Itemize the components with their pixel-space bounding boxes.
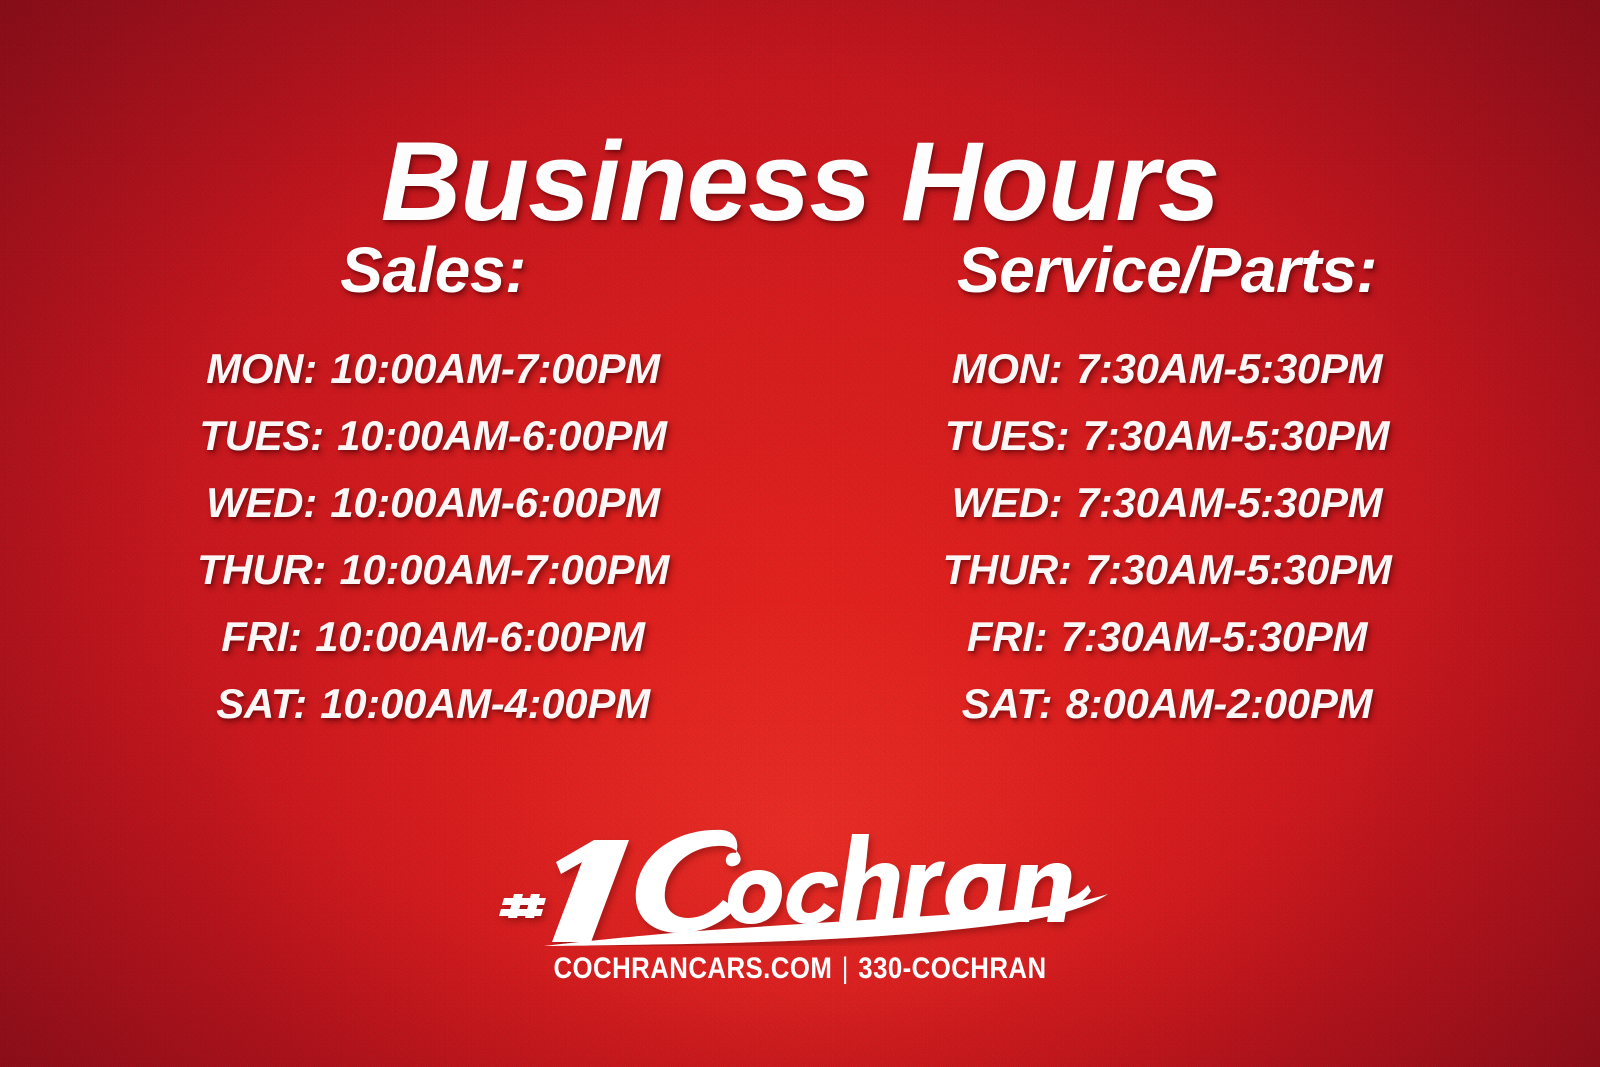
- hours-value: 8:00AM-2:00PM: [1066, 680, 1373, 727]
- page-title: Business Hours: [0, 123, 1600, 241]
- day-label: MON:: [952, 345, 1063, 392]
- day-label: TUES:: [945, 412, 1070, 459]
- hash-mark-icon: [499, 894, 546, 918]
- service-parts-column-heading: Service/Parts:: [817, 238, 1517, 302]
- day-label: SAT:: [216, 680, 307, 727]
- business-hours-poster: Business Hours Sales: MON: 10:00AM-7:00P…: [0, 0, 1600, 1067]
- day-label: MON:: [206, 345, 317, 392]
- hours-value: 10:00AM-7:00PM: [339, 546, 669, 593]
- list-item: MON: 10:00AM-7:00PM: [83, 348, 783, 390]
- hours-value: 7:30AM-5:30PM: [1083, 412, 1390, 459]
- list-item: FRI: 7:30AM-5:30PM: [817, 616, 1517, 658]
- day-label: FRI:: [221, 613, 301, 660]
- list-item: FRI: 10:00AM-6:00PM: [83, 616, 783, 658]
- hours-value: 10:00AM-7:00PM: [330, 345, 660, 392]
- phone-text: 330-COCHRAN: [858, 952, 1046, 985]
- sales-hours-list: MON: 10:00AM-7:00PM TUES: 10:00AM-6:00PM…: [83, 348, 783, 725]
- list-item: SAT: 10:00AM-4:00PM: [83, 683, 783, 725]
- cochran-logo: [490, 806, 1110, 946]
- sales-hours-column: Sales: MON: 10:00AM-7:00PM TUES: 10:00AM…: [83, 238, 803, 750]
- hours-value: 7:30AM-5:30PM: [1085, 546, 1392, 593]
- day-label: THUR:: [942, 546, 1071, 593]
- website-text: COCHRANCARS.COM: [553, 952, 832, 985]
- hours-value: 7:30AM-5:30PM: [1076, 345, 1383, 392]
- hours-value: 7:30AM-5:30PM: [1076, 479, 1383, 526]
- hours-value: 10:00AM-6:00PM: [315, 613, 645, 660]
- swoosh-underline: [544, 892, 1108, 946]
- list-item: THUR: 7:30AM-5:30PM: [817, 549, 1517, 591]
- service-parts-hours-column: Service/Parts: MON: 7:30AM-5:30PM TUES: …: [803, 238, 1517, 750]
- hours-value: 10:00AM-6:00PM: [330, 479, 660, 526]
- list-item: TUES: 7:30AM-5:30PM: [817, 415, 1517, 457]
- hours-value: 10:00AM-6:00PM: [337, 412, 667, 459]
- hours-columns: Sales: MON: 10:00AM-7:00PM TUES: 10:00AM…: [0, 238, 1600, 750]
- list-item: SAT: 8:00AM-2:00PM: [817, 683, 1517, 725]
- day-label: THUR:: [197, 546, 326, 593]
- list-item: WED: 10:00AM-6:00PM: [83, 482, 783, 524]
- service-parts-hours-list: MON: 7:30AM-5:30PM TUES: 7:30AM-5:30PM W…: [817, 348, 1517, 725]
- day-label: TUES:: [199, 412, 324, 459]
- list-item: WED: 7:30AM-5:30PM: [817, 482, 1517, 524]
- list-item: TUES: 10:00AM-6:00PM: [83, 415, 783, 457]
- day-label: WED:: [206, 479, 317, 526]
- numeral-one: [552, 840, 629, 942]
- list-item: MON: 7:30AM-5:30PM: [817, 348, 1517, 390]
- hours-value: 10:00AM-4:00PM: [320, 680, 650, 727]
- day-label: SAT:: [962, 680, 1053, 727]
- footer-separator: |: [842, 952, 849, 986]
- day-label: WED:: [952, 479, 1063, 526]
- cochran-logo-svg: [490, 806, 1110, 946]
- footer-contact: COCHRANCARS.COM|330-COCHRAN: [112, 952, 1488, 986]
- day-label: FRI:: [967, 613, 1047, 660]
- sales-column-heading: Sales:: [83, 238, 783, 302]
- list-item: THUR: 10:00AM-7:00PM: [83, 549, 783, 591]
- hours-value: 7:30AM-5:30PM: [1061, 613, 1368, 660]
